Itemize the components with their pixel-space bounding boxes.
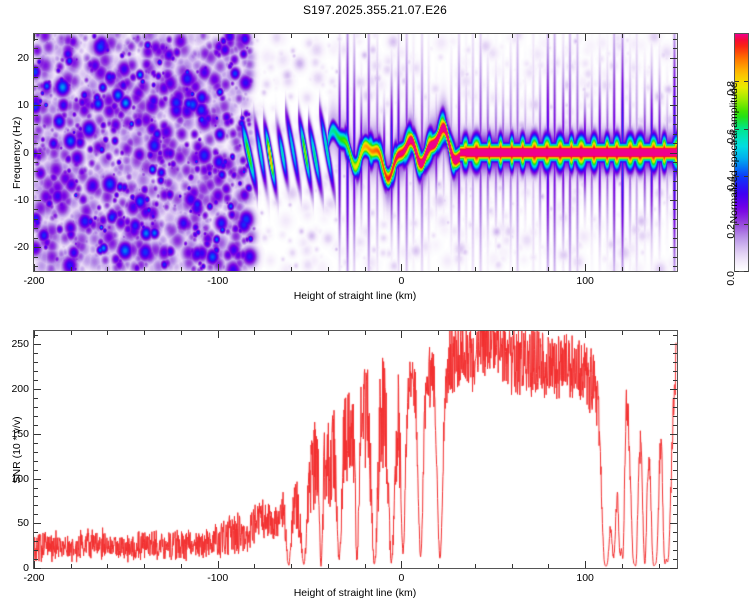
spectrogram-xtick-minor-top	[365, 34, 366, 38]
spectrogram-ytick-minor	[34, 143, 38, 144]
spectrogram-image	[34, 34, 677, 271]
colorbar-tick-right	[744, 176, 748, 177]
spectrogram-xtick-minor-top	[71, 34, 72, 38]
spectrogram-yticklabel: 10	[17, 99, 29, 111]
snr-xtick-minor-top	[622, 331, 623, 335]
snr-xtick-minor-top	[548, 331, 549, 335]
snr-xtick-major	[401, 561, 402, 568]
snr-ytick-minor	[34, 398, 38, 399]
spectrogram-ytick-minor-right	[673, 48, 677, 49]
snr-ytick-minor	[34, 488, 38, 489]
colorbar-ticklabel: 0.8	[725, 81, 737, 96]
snr-ytick-minor-right	[673, 541, 677, 542]
snr-ytick-minor	[34, 541, 38, 542]
spectrogram-ytick-minor-right	[673, 257, 677, 258]
spectrogram-xtick-major	[585, 264, 586, 271]
snr-ytick-major-right	[670, 434, 677, 435]
snr-xtick-minor-top	[181, 331, 182, 335]
spectrogram-ytick-minor	[34, 209, 38, 210]
spectrogram-xtick-major-top	[34, 34, 35, 41]
spectrogram-xtick-minor-top	[475, 34, 476, 38]
spectrogram-xticklabel: 0	[399, 275, 405, 287]
figure-canvas: S197.2025.355.21.07.E26 Frequency (Hz) H…	[0, 0, 750, 600]
snr-ytick-major-right	[670, 568, 677, 569]
snr-ytick-minor-right	[673, 505, 677, 506]
spectrogram-xticklabel: -200	[23, 275, 44, 287]
spectrogram-ytick-major	[34, 247, 41, 248]
snr-xtick-minor	[365, 564, 366, 568]
colorbar-tick-right	[744, 224, 748, 225]
snr-ytick-minor-right	[673, 532, 677, 533]
spectrogram-ytick-minor	[34, 134, 38, 135]
snr-ytick-minor	[34, 461, 38, 462]
spectrogram-ytick-major-right	[670, 105, 677, 106]
snr-ytick-minor-right	[673, 452, 677, 453]
spectrogram-xtick-minor-top	[548, 34, 549, 38]
snr-yticklabel: 150	[11, 428, 29, 440]
snr-xtick-minor	[181, 564, 182, 568]
snr-ytick-minor-right	[673, 380, 677, 381]
spectrogram-ytick-minor-right	[673, 190, 677, 191]
snr-xtick-minor	[328, 564, 329, 568]
spectrogram-xtick-minor-top	[512, 34, 513, 38]
snr-yticklabel: 100	[11, 473, 29, 485]
snr-ytick-minor	[34, 443, 38, 444]
spectrogram-ytick-major-right	[670, 58, 677, 59]
snr-ytick-minor-right	[673, 559, 677, 560]
snr-ytick-minor-right	[673, 398, 677, 399]
snr-ytick-minor-right	[673, 443, 677, 444]
spectrogram-ytick-minor-right	[673, 209, 677, 210]
spectrogram-xtick-minor	[659, 267, 660, 271]
spectrogram-ytick-minor	[34, 124, 38, 125]
snr-xtick-minor-top	[438, 331, 439, 335]
snr-yticklabel: 0	[23, 562, 29, 574]
snr-panel	[33, 330, 678, 569]
spectrogram-ytick-minor-right	[673, 162, 677, 163]
spectrogram-xtick-minor	[181, 267, 182, 271]
spectrogram-ytick-minor	[34, 257, 38, 258]
spectrogram-ytick-minor	[34, 77, 38, 78]
spectrogram-xticklabel: -100	[207, 275, 228, 287]
snr-ytick-minor	[34, 505, 38, 506]
snr-yticklabel: 250	[11, 338, 29, 350]
snr-xtick-minor	[548, 564, 549, 568]
spectrogram-yticklabel: -20	[14, 241, 29, 253]
spectrogram-ytick-minor-right	[673, 96, 677, 97]
snr-ytick-minor	[34, 425, 38, 426]
snr-ytick-minor	[34, 371, 38, 372]
snr-trace	[34, 331, 677, 568]
spectrogram-x-axis-label: Height of straight line (km)	[294, 290, 417, 302]
spectrogram-yticklabel: -10	[14, 194, 29, 206]
snr-ytick-minor	[34, 452, 38, 453]
spectrogram-ytick-minor-right	[673, 171, 677, 172]
spectrogram-xtick-minor	[365, 267, 366, 271]
spectrogram-xtick-minor	[328, 267, 329, 271]
snr-xtick-major-top	[218, 331, 219, 338]
snr-ytick-major-right	[670, 479, 677, 480]
spectrogram-ytick-minor-right	[673, 39, 677, 40]
snr-ytick-minor-right	[673, 353, 677, 354]
spectrogram-ytick-minor	[34, 67, 38, 68]
spectrogram-xtick-minor-top	[107, 34, 108, 38]
snr-xtick-minor-top	[291, 331, 292, 335]
snr-ytick-minor	[34, 335, 38, 336]
spectrogram-ytick-major-right	[670, 247, 677, 248]
snr-yticklabel: 50	[17, 517, 29, 529]
spectrogram-ytick-minor	[34, 190, 38, 191]
colorbar-ticklabel: 0.0	[725, 271, 737, 286]
snr-ytick-major-right	[670, 523, 677, 524]
snr-xtick-minor-top	[512, 331, 513, 335]
spectrogram-xtick-minor	[254, 267, 255, 271]
spectrogram-xtick-minor-top	[144, 34, 145, 38]
spectrogram-ytick-minor-right	[673, 219, 677, 220]
spectrogram-ytick-minor-right	[673, 67, 677, 68]
snr-ytick-major	[34, 389, 41, 390]
snr-xticklabel: 100	[576, 572, 594, 584]
spectrogram-xtick-minor	[622, 267, 623, 271]
snr-ytick-minor-right	[673, 425, 677, 426]
snr-xtick-minor-top	[659, 331, 660, 335]
snr-ytick-minor-right	[673, 335, 677, 336]
snr-xtick-minor	[659, 564, 660, 568]
snr-plot-area	[34, 331, 677, 568]
spectrogram-ytick-minor	[34, 162, 38, 163]
snr-ytick-minor	[34, 496, 38, 497]
spectrogram-ytick-major	[34, 200, 41, 201]
spectrogram-yticklabel: 0	[23, 147, 29, 159]
snr-xtick-minor	[438, 564, 439, 568]
spectrogram-xtick-minor-top	[254, 34, 255, 38]
spectrogram-xtick-minor	[548, 267, 549, 271]
colorbar-tick-right	[744, 81, 748, 82]
snr-xtick-minor	[71, 564, 72, 568]
colorbar-tick-right	[744, 129, 748, 130]
spectrogram-ytick-minor-right	[673, 124, 677, 125]
spectrogram-ytick-minor-right	[673, 134, 677, 135]
spectrogram-xtick-major	[34, 264, 35, 271]
spectrogram-xtick-major-top	[585, 34, 586, 41]
spectrogram-xticklabel: 100	[576, 275, 594, 287]
spectrogram-ytick-major-right	[670, 200, 677, 201]
snr-xtick-major-top	[585, 331, 586, 338]
spectrogram-ytick-minor-right	[673, 266, 677, 267]
spectrogram-ytick-major	[34, 58, 41, 59]
spectrogram-xtick-minor	[71, 267, 72, 271]
snr-ytick-minor-right	[673, 470, 677, 471]
spectrogram-xtick-minor	[291, 267, 292, 271]
snr-ytick-minor-right	[673, 407, 677, 408]
snr-x-axis-label: Height of straight line (km)	[294, 587, 417, 599]
snr-xtick-minor-top	[71, 331, 72, 335]
snr-ytick-major	[34, 568, 41, 569]
snr-xtick-minor	[622, 564, 623, 568]
snr-xtick-minor-top	[328, 331, 329, 335]
snr-xtick-minor	[144, 564, 145, 568]
snr-xtick-major	[34, 561, 35, 568]
spectrogram-plot-area	[34, 34, 677, 271]
colorbar-tick-right	[744, 271, 748, 272]
spectrogram-ytick-minor	[34, 228, 38, 229]
spectrogram-ytick-minor	[34, 48, 38, 49]
spectrogram-panel	[33, 33, 678, 272]
snr-ytick-minor	[34, 559, 38, 560]
spectrogram-xtick-minor-top	[328, 34, 329, 38]
spectrogram-xtick-major-top	[218, 34, 219, 41]
snr-ytick-minor-right	[673, 416, 677, 417]
snr-xtick-major	[218, 561, 219, 568]
snr-ytick-major	[34, 344, 41, 345]
snr-ytick-minor-right	[673, 362, 677, 363]
spectrogram-xtick-major-top	[401, 34, 402, 41]
snr-xtick-minor-top	[107, 331, 108, 335]
snr-xtick-minor	[107, 564, 108, 568]
snr-xtick-minor-top	[144, 331, 145, 335]
spectrogram-xtick-minor	[475, 267, 476, 271]
snr-ytick-minor	[34, 532, 38, 533]
spectrogram-xtick-major	[218, 264, 219, 271]
snr-ytick-minor-right	[673, 496, 677, 497]
spectrogram-ytick-minor	[34, 39, 38, 40]
spectrogram-xtick-minor-top	[659, 34, 660, 38]
snr-ytick-minor-right	[673, 488, 677, 489]
snr-ytick-major	[34, 479, 41, 480]
spectrogram-xtick-major	[401, 264, 402, 271]
spectrogram-yticklabel: 20	[17, 52, 29, 64]
snr-ytick-minor-right	[673, 550, 677, 551]
colorbar-ticklabel: 0.4	[725, 176, 737, 191]
snr-xtick-minor-top	[254, 331, 255, 335]
spectrogram-ytick-minor	[34, 219, 38, 220]
snr-xtick-minor	[475, 564, 476, 568]
spectrogram-ytick-minor-right	[673, 86, 677, 87]
snr-xtick-minor	[254, 564, 255, 568]
spectrogram-ytick-minor-right	[673, 143, 677, 144]
spectrogram-ytick-minor-right	[673, 228, 677, 229]
snr-xtick-major-top	[401, 331, 402, 338]
snr-xtick-minor	[291, 564, 292, 568]
spectrogram-xtick-minor	[512, 267, 513, 271]
snr-ytick-minor	[34, 416, 38, 417]
snr-xticklabel: 0	[399, 572, 405, 584]
spectrogram-ytick-minor	[34, 181, 38, 182]
snr-ytick-minor	[34, 362, 38, 363]
spectrogram-xtick-minor-top	[438, 34, 439, 38]
snr-ytick-minor	[34, 514, 38, 515]
snr-ytick-major-right	[670, 344, 677, 345]
figure-title: S197.2025.355.21.07.E26	[0, 3, 750, 17]
snr-ytick-minor-right	[673, 461, 677, 462]
snr-ytick-minor	[34, 380, 38, 381]
spectrogram-ytick-minor-right	[673, 115, 677, 116]
spectrogram-ytick-minor-right	[673, 77, 677, 78]
snr-ytick-major	[34, 523, 41, 524]
snr-ytick-minor	[34, 407, 38, 408]
colorbar-ticklabel: 0.6	[725, 129, 737, 144]
spectrogram-ytick-minor	[34, 115, 38, 116]
spectrogram-y-axis-label: Frequency (Hz)	[11, 117, 23, 189]
snr-ytick-minor	[34, 550, 38, 551]
snr-xtick-minor	[512, 564, 513, 568]
snr-ytick-major	[34, 434, 41, 435]
snr-xticklabel: -100	[207, 572, 228, 584]
spectrogram-xtick-minor	[144, 267, 145, 271]
spectrogram-xtick-minor	[107, 267, 108, 271]
snr-ytick-minor-right	[673, 514, 677, 515]
snr-ytick-minor-right	[673, 371, 677, 372]
spectrogram-ytick-minor	[34, 266, 38, 267]
snr-xtick-major	[585, 561, 586, 568]
snr-ytick-major-right	[670, 389, 677, 390]
spectrogram-ytick-minor-right	[673, 238, 677, 239]
spectrogram-ytick-major	[34, 105, 41, 106]
spectrogram-xtick-minor-top	[291, 34, 292, 38]
spectrogram-ytick-minor-right	[673, 181, 677, 182]
colorbar-label: Normalized spectral amplitude	[728, 82, 740, 223]
spectrogram-ytick-minor	[34, 86, 38, 87]
snr-xtick-minor-top	[475, 331, 476, 335]
snr-ytick-minor	[34, 470, 38, 471]
snr-xtick-minor-top	[365, 331, 366, 335]
spectrogram-ytick-minor	[34, 96, 38, 97]
spectrogram-ytick-major	[34, 153, 41, 154]
spectrogram-xtick-minor-top	[181, 34, 182, 38]
snr-ytick-minor	[34, 353, 38, 354]
spectrogram-xtick-minor-top	[622, 34, 623, 38]
colorbar-ticklabel: 0.2	[725, 224, 737, 239]
snr-yticklabel: 200	[11, 383, 29, 395]
spectrogram-ytick-minor	[34, 171, 38, 172]
spectrogram-ytick-major-right	[670, 153, 677, 154]
spectrogram-ytick-minor	[34, 238, 38, 239]
spectrogram-xtick-minor	[438, 267, 439, 271]
